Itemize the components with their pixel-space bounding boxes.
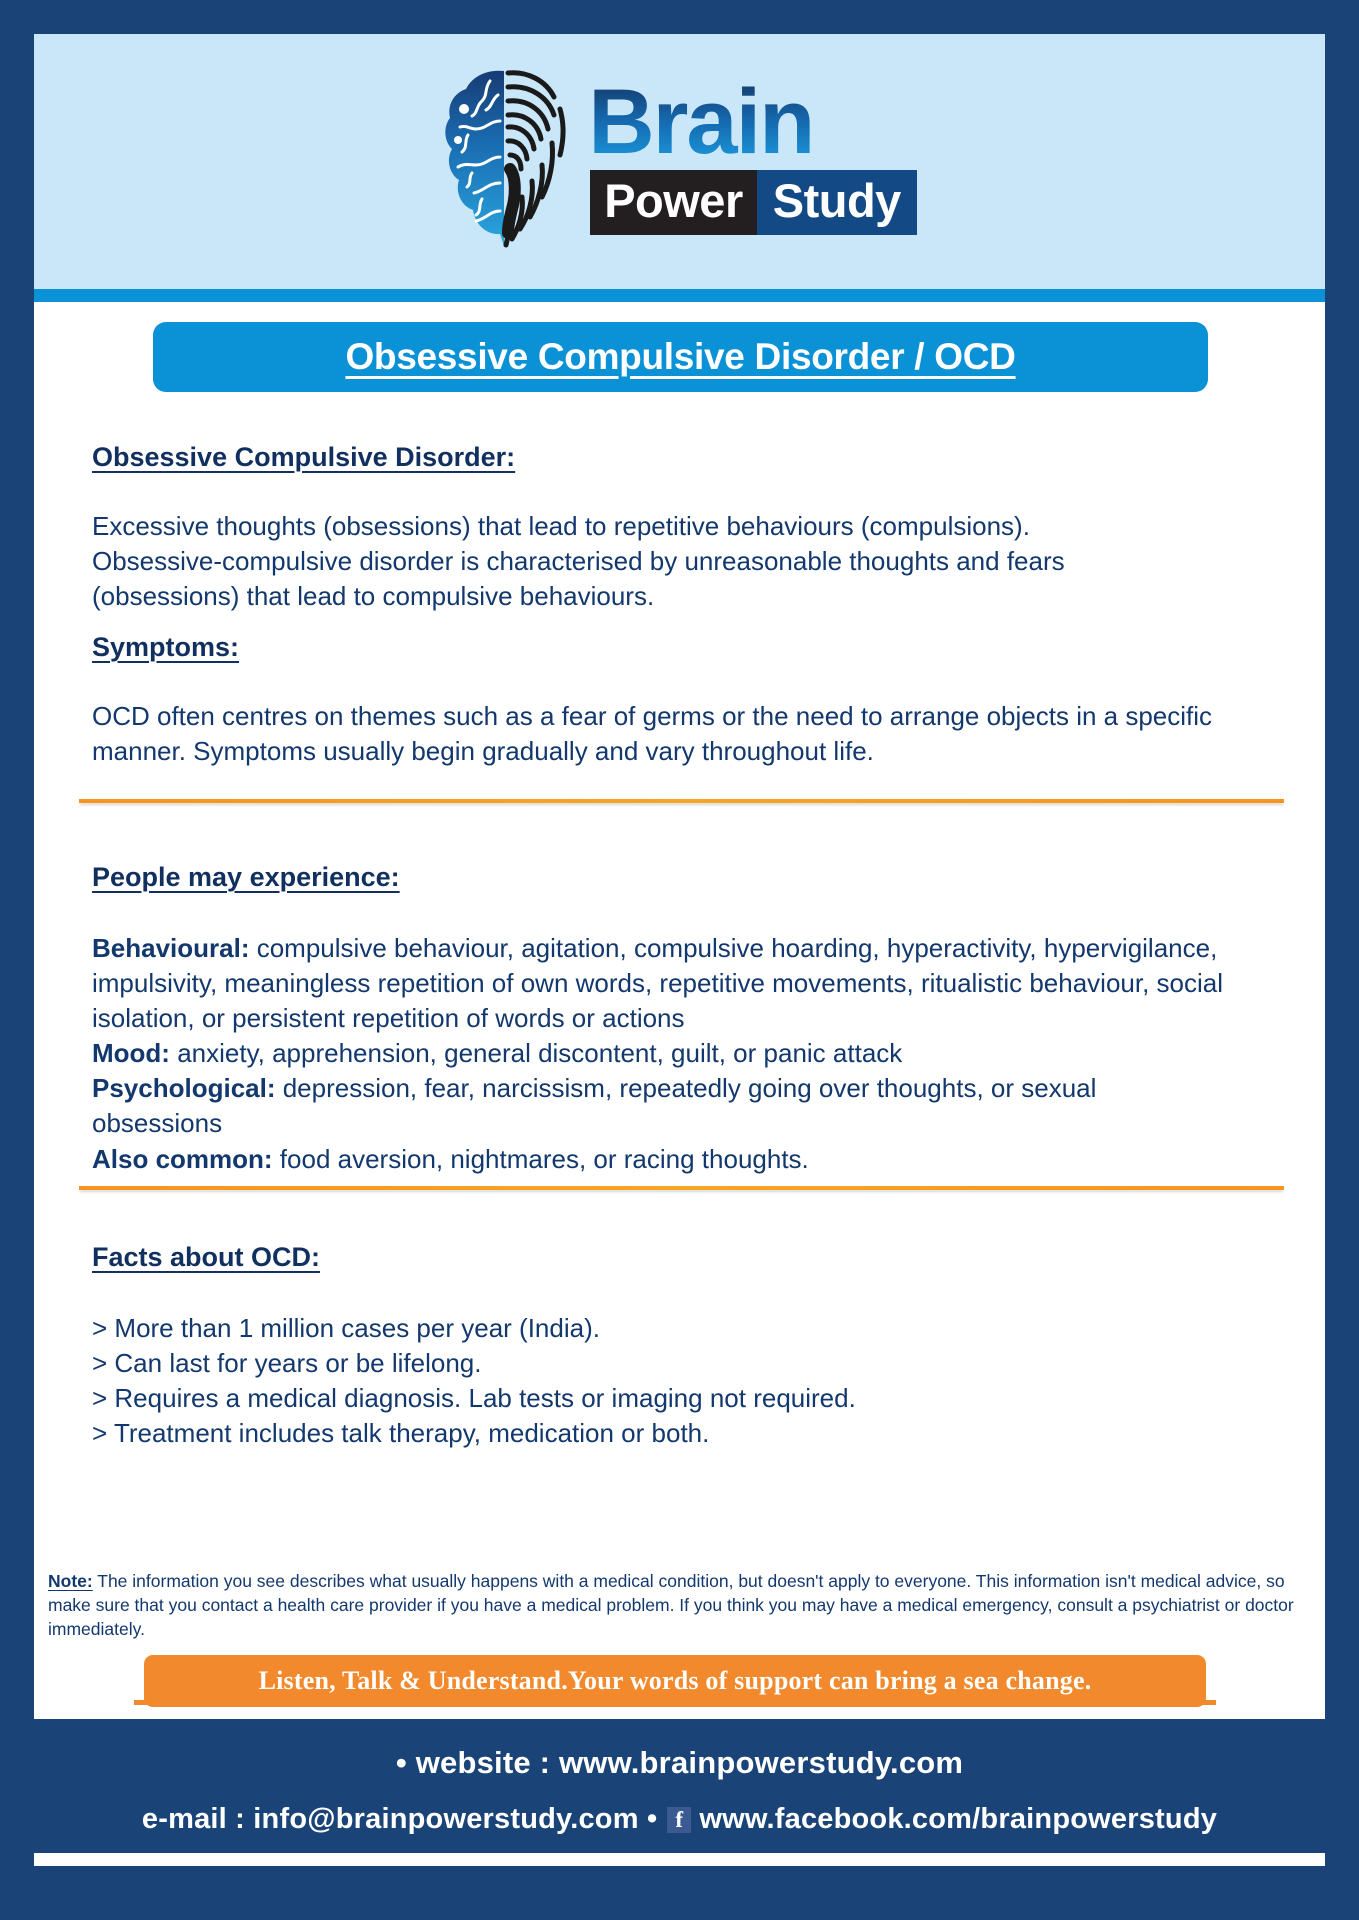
- section-facts: Facts about OCD: > More than 1 million c…: [92, 1242, 1282, 1451]
- header-accent-rule: [34, 289, 1325, 302]
- footer: • website : www.brainpowerstudy.com e-ma…: [0, 1719, 1359, 1920]
- page-title-banner: Obsessive Compulsive Disorder / OCD: [153, 322, 1208, 392]
- experience-label-psychological: Psychological:: [92, 1073, 276, 1103]
- experience-item-mood: Mood: anxiety, apprehension, general dis…: [92, 1036, 1227, 1071]
- logo-power-text: Power: [590, 170, 757, 235]
- section-ocd-body: Excessive thoughts (obsessions) that lea…: [92, 509, 1152, 614]
- divider-bottom: [79, 1186, 1284, 1190]
- logo-brain-text: Brain: [588, 80, 817, 165]
- section-symptoms-body: OCD often centres on themes such as a fe…: [92, 699, 1217, 769]
- note-text: The information you see describes what u…: [48, 1571, 1294, 1639]
- slogan-text: Listen, Talk & Understand.Your words of …: [259, 1666, 1092, 1696]
- footer-divider-rule: [34, 1853, 1325, 1866]
- fact-item: > Requires a medical diagnosis. Lab test…: [92, 1381, 1282, 1416]
- disclaimer-note: Note: The information you see describes …: [48, 1570, 1314, 1641]
- facebook-icon[interactable]: f: [667, 1807, 691, 1833]
- header-band: Brain Power Study: [34, 34, 1325, 289]
- experience-item-also-common: Also common: food aversion, nightmares, …: [92, 1142, 1227, 1177]
- section-experience: People may experience: Behavioural: comp…: [92, 862, 1282, 1177]
- experience-label-also-common: Also common:: [92, 1144, 273, 1174]
- logo-wordmark: Brain Power Study: [588, 80, 917, 235]
- experience-text-also-common: food aversion, nightmares, or racing tho…: [273, 1144, 809, 1174]
- experience-item-psychological: Psychological: depression, fear, narciss…: [92, 1071, 1227, 1141]
- section-experience-heading: People may experience:: [92, 862, 1282, 893]
- brand-logo: Brain Power Study: [442, 65, 917, 250]
- slogan-banner: Listen, Talk & Understand.Your words of …: [144, 1655, 1206, 1707]
- experience-text-behavioural: compulsive behaviour, agitation, compuls…: [92, 933, 1223, 1033]
- footer-facebook-url[interactable]: www.facebook.com/brainpowerstudy: [699, 1803, 1217, 1836]
- poster-root: Brain Power Study Obsessive Compulsive D…: [0, 0, 1359, 1920]
- fact-item: > Treatment includes talk therapy, medic…: [92, 1416, 1282, 1451]
- experience-label-mood: Mood:: [92, 1038, 170, 1068]
- experience-label-behavioural: Behavioural:: [92, 933, 250, 963]
- section-symptoms: Symptoms: OCD often centres on themes su…: [92, 632, 1282, 769]
- page-body: Obsessive Compulsive Disorder / OCD Obse…: [34, 302, 1325, 1719]
- footer-contact-row: e-mail : info@brainpowerstudy.com • f ww…: [142, 1803, 1217, 1836]
- experience-text-mood: anxiety, apprehension, general disconten…: [170, 1038, 902, 1068]
- footer-email[interactable]: e-mail : info@brainpowerstudy.com •: [142, 1803, 657, 1836]
- note-label: Note:: [48, 1571, 93, 1591]
- experience-item-behavioural: Behavioural: compulsive behaviour, agita…: [92, 931, 1227, 1036]
- footer-website[interactable]: • website : www.brainpowerstudy.com: [396, 1745, 963, 1781]
- fact-item: > Can last for years or be lifelong.: [92, 1346, 1282, 1381]
- brain-fingerprint-icon: [442, 65, 572, 250]
- fact-item: > More than 1 million cases per year (In…: [92, 1311, 1282, 1346]
- section-ocd: Obsessive Compulsive Disorder: Excessive…: [92, 442, 1282, 614]
- section-ocd-heading: Obsessive Compulsive Disorder:: [92, 442, 1282, 473]
- page-title: Obsessive Compulsive Disorder / OCD: [345, 336, 1015, 378]
- divider-top: [79, 799, 1284, 803]
- logo-study-text: Study: [757, 170, 917, 235]
- section-facts-heading: Facts about OCD:: [92, 1242, 1282, 1273]
- section-symptoms-heading: Symptoms:: [92, 632, 1282, 663]
